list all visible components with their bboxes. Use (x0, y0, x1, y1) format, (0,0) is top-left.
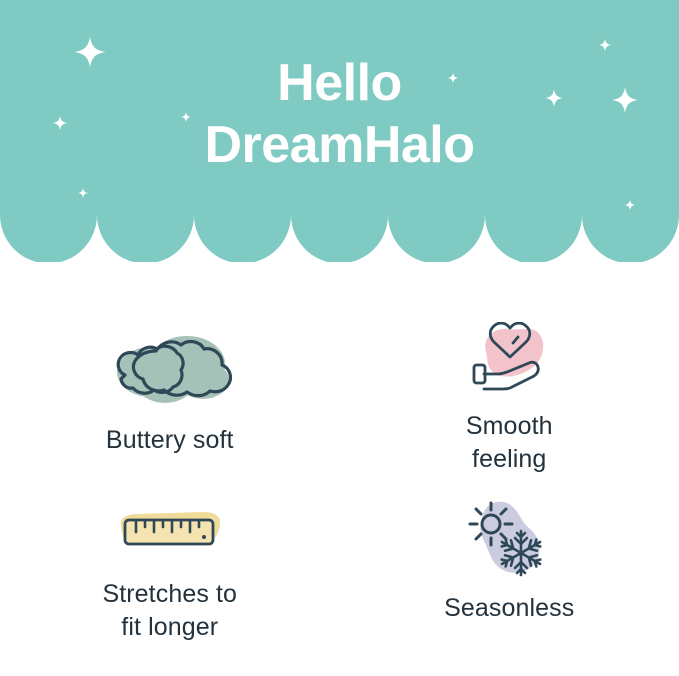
feature-label-stretches-to-fit-longer: Stretches to fit longer (102, 578, 237, 644)
feature-label-line-1: Smooth (466, 410, 553, 443)
scalloped-teal-shape (0, 0, 679, 262)
sun-snowflake-icon (464, 496, 554, 578)
feature-label-line-1: Stretches to (102, 578, 237, 611)
hero-banner: Hello DreamHalo (0, 0, 679, 262)
feature-item-stretches-to-fit-longer: Stretches to fit longer (0, 488, 340, 676)
feature-item-smooth-feeling: Smooth feeling (340, 300, 679, 488)
feature-label-line-1: Buttery soft (106, 424, 234, 457)
feature-label-line-2: feeling (466, 443, 553, 476)
cloud-icon (95, 328, 245, 410)
feature-label-line-1: Seasonless (444, 592, 574, 625)
feature-item-seasonless: Seasonless (340, 488, 679, 676)
feature-label-smooth-feeling: Smooth feeling (466, 410, 553, 476)
feature-label-buttery-soft: Buttery soft (106, 424, 234, 457)
ruler-icon (115, 506, 225, 564)
hero-background-shape (0, 0, 679, 262)
feature-label-seasonless: Seasonless (444, 592, 574, 625)
feature-grid: Buttery soft Smooth feeling (0, 300, 679, 676)
feature-label-line-2: fit longer (102, 611, 237, 644)
hand-holding-heart-icon (466, 322, 552, 396)
feature-item-buttery-soft: Buttery soft (0, 300, 340, 488)
